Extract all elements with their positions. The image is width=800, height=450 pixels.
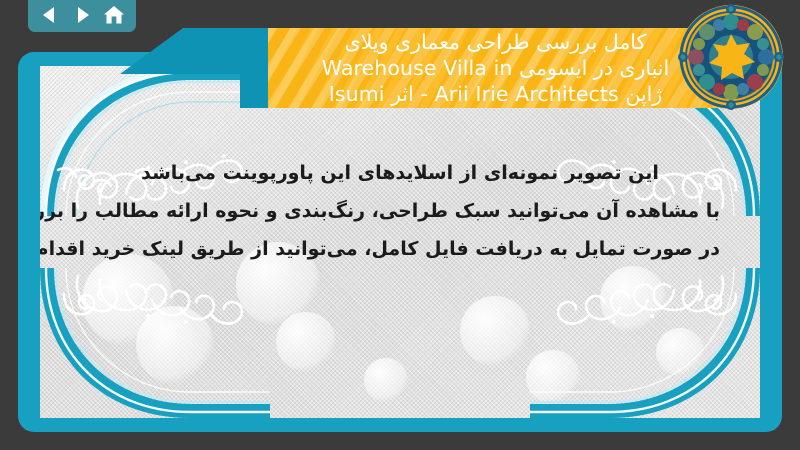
bokeh-circle	[656, 328, 704, 376]
body-line: در صورت تمایل به دریافت فایل کامل، می‌تو…	[80, 230, 720, 268]
forward-triangle-icon	[72, 5, 92, 25]
body-line: با مشاهده آن می‌توانید سبک طراحی، رنگ‌بن…	[80, 192, 720, 230]
forward-button[interactable]	[68, 3, 96, 27]
arabesque-corner-flourish-icon	[40, 268, 270, 418]
bokeh-circle	[460, 296, 530, 366]
slide-body-text: این تصویر نمونه‌ای از اسلایدهای این پاور…	[80, 154, 720, 268]
banner-accent-tab	[240, 28, 270, 108]
back-triangle-icon	[40, 5, 60, 25]
slide-frame: این تصویر نمونه‌ای از اسلایدهای این پاور…	[18, 52, 782, 432]
navigation-bar	[28, 0, 136, 32]
slide-content-panel: این تصویر نمونه‌ای از اسلایدهای این پاور…	[40, 66, 760, 418]
slide-viewer: این تصویر نمونه‌ای از اسلایدهای این پاور…	[0, 0, 800, 450]
home-icon	[103, 5, 125, 25]
arabesque-corner-flourish-icon	[530, 268, 760, 418]
bokeh-circle	[526, 350, 580, 404]
title-line: انباری در ایسومی Warehouse Villa in	[322, 55, 669, 81]
title-line: ژاپن Arii Irie Architects - اثر Isumi	[329, 81, 663, 107]
bokeh-circle	[600, 266, 666, 332]
bokeh-circle	[276, 312, 336, 372]
bokeh-circle	[136, 306, 214, 384]
slide-title-banner: کامل بررسی طراحی معماری ویلای انباری در …	[268, 28, 723, 108]
persian-medallion-ornament-icon	[676, 2, 786, 112]
title-line: کامل بررسی طراحی معماری ویلای	[345, 29, 647, 55]
bokeh-circle	[364, 358, 408, 402]
body-line: این تصویر نمونه‌ای از اسلایدهای این پاور…	[80, 154, 720, 192]
home-button[interactable]	[100, 3, 128, 27]
back-button[interactable]	[36, 3, 64, 27]
